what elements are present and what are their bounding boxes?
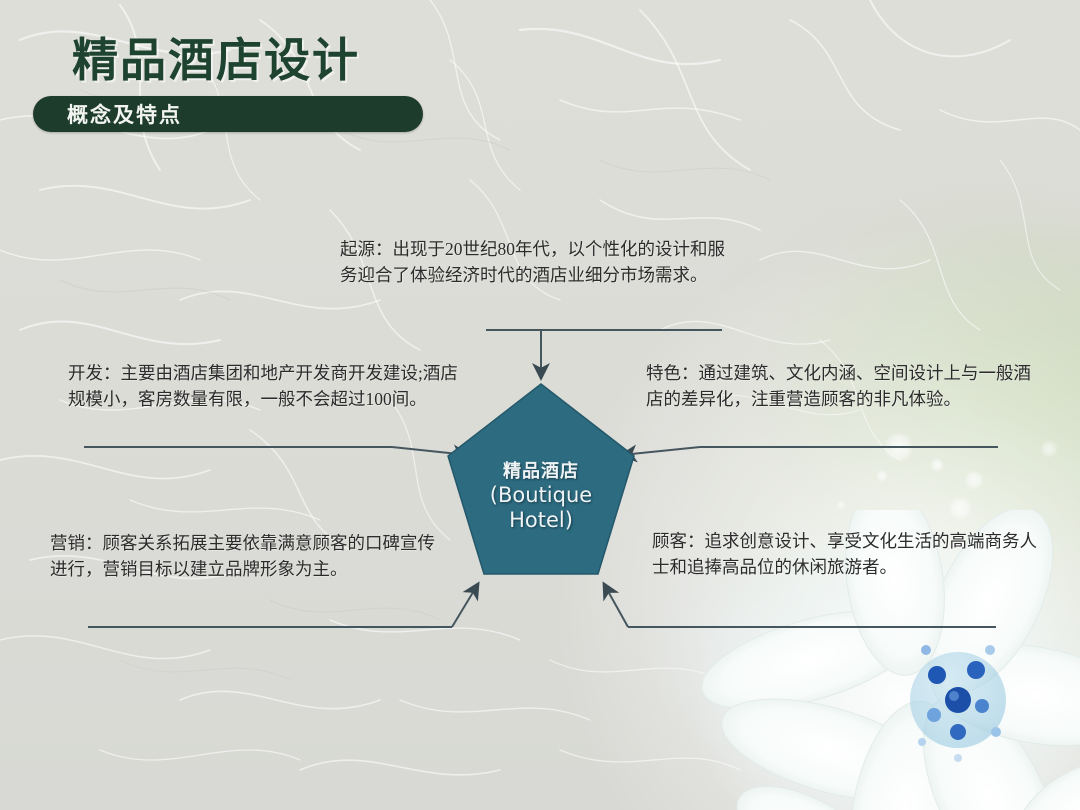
note-develop: 开发：主要由酒店集团和地产开发商开发建设;酒店规模小，客房数量有限，一般不会超过…	[68, 360, 468, 413]
bokeh-spot	[964, 470, 984, 490]
bokeh-spot	[876, 470, 888, 482]
section-banner-label: 概念及特点	[67, 99, 182, 129]
note-develop-lead: 开发：	[68, 363, 121, 383]
bokeh-spot	[1040, 440, 1058, 458]
note-feature-lead: 特色：	[646, 363, 699, 383]
note-market: 营销：顾客关系拓展主要依靠满意顾客的口碑宣传进行，营销目标以建立品牌形象为主。	[50, 530, 452, 583]
bokeh-spot	[800, 648, 812, 660]
section-banner: 概念及特点	[33, 96, 423, 132]
note-market-lead: 营销：	[50, 533, 103, 553]
bokeh-spot	[836, 500, 846, 510]
note-origin-text: 出现于20世纪80年代，以个性化的设计和服务迎合了体验经济时代的酒店业细分市场需…	[340, 239, 725, 285]
note-feature: 特色：通过建筑、文化内涵、空间设计上与一般酒店的差异化，注重营造顾客的非凡体验。	[646, 360, 1042, 413]
note-customer: 顾客：追求创意设计、享受文化生活的高端商务人士和追捧高品位的休闲旅游者。	[652, 528, 1048, 581]
central-pentagon: 精品酒店 (Boutique Hotel)	[446, 382, 636, 578]
page-title: 精品酒店设计	[72, 24, 360, 90]
note-customer-lead: 顾客：	[652, 531, 705, 551]
bokeh-spot	[884, 432, 914, 462]
note-feature-text: 通过建筑、文化内涵、空间设计上与一般酒店的差异化，注重营造顾客的非凡体验。	[646, 363, 1031, 409]
note-origin: 起源：出现于20世纪80年代，以个性化的设计和服务迎合了体验经济时代的酒店业细分…	[340, 236, 740, 289]
slide-canvas: 精品酒店设计 概念及特点	[0, 0, 1080, 810]
note-origin-lead: 起源：	[340, 239, 393, 259]
note-develop-text: 主要由酒店集团和地产开发商开发建设;酒店规模小，客房数量有限，一般不会超过100…	[68, 363, 458, 409]
bokeh-spot	[948, 496, 972, 520]
note-market-text: 顾客关系拓展主要依靠满意顾客的口碑宣传进行，营销目标以建立品牌形象为主。	[50, 533, 435, 579]
bokeh-spot	[930, 458, 944, 472]
note-customer-text: 追求创意设计、享受文化生活的高端商务人士和追捧高品位的休闲旅游者。	[652, 531, 1037, 577]
